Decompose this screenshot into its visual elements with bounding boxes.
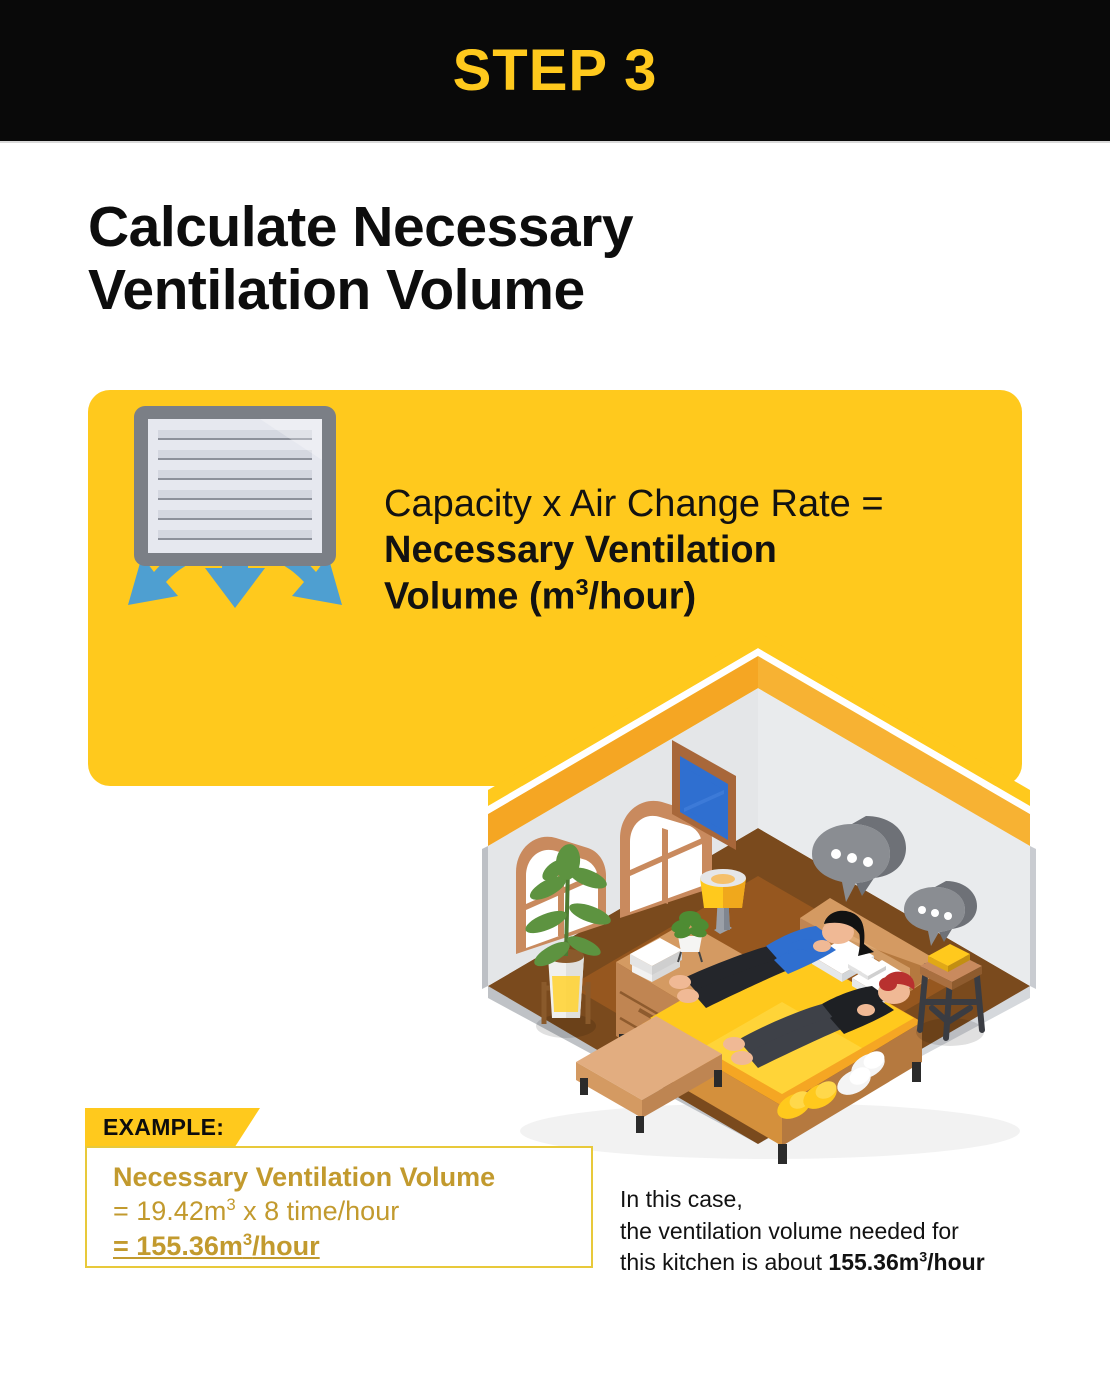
example-line-2a: = 19.42m <box>113 1196 226 1226</box>
note-line-2: the ventilation volume needed for <box>620 1218 959 1244</box>
ventilation-grille-icon <box>110 400 360 615</box>
formula-line-2c: /hour) <box>589 576 697 618</box>
header-divider <box>0 141 1110 143</box>
note-line-1: In this case, <box>620 1186 743 1212</box>
formula-exponent: 3 <box>575 574 588 600</box>
formula-line-1: Capacity x Air Change Rate = <box>384 482 984 528</box>
note-line-3a: this kitchen is about <box>620 1249 828 1275</box>
example-line-2: = 19.42m3 x 8 time/hour <box>113 1194 583 1228</box>
note-value-exponent: 3 <box>919 1249 927 1265</box>
note-value-number: 155.36m <box>828 1249 919 1275</box>
example-line-2b: x 8 time/hour <box>236 1196 400 1226</box>
isometric-bedroom-illustration <box>470 626 1046 1166</box>
step-label: STEP 3 <box>453 42 658 100</box>
note-highlight-value: 155.36m3/hour <box>828 1249 984 1275</box>
example-calculation: Necessary Ventilation Volume = 19.42m3 x… <box>113 1160 583 1263</box>
formula-line-3: Volume (m3/hour) <box>384 573 984 620</box>
example-line-3a: = 155.36m <box>113 1231 243 1261</box>
formula-line-2a: Necessary Ventilation <box>384 529 777 571</box>
conclusion-note: In this case, the ventilation volume nee… <box>620 1184 1080 1279</box>
page-title: Calculate Necessary Ventilation Volume <box>88 196 918 323</box>
example-tab-label: EXAMPLE: <box>103 1114 224 1141</box>
formula-text: Capacity x Air Change Rate = Necessary V… <box>384 482 984 620</box>
step-header-bar: STEP 3 <box>0 0 1110 141</box>
example-line-2-exponent: 3 <box>226 1195 235 1214</box>
note-value-unit: /hour <box>927 1249 985 1275</box>
formula-line-2b: Volume (m <box>384 576 575 618</box>
example-line-1: Necessary Ventilation Volume <box>113 1160 583 1194</box>
formula-line-2: Necessary Ventilation <box>384 528 984 574</box>
example-tab: EXAMPLE: <box>85 1108 260 1146</box>
note-line-3: this kitchen is about 155.36m3/hour <box>620 1249 985 1275</box>
example-line-3b: /hour <box>252 1231 320 1261</box>
example-line-3-exponent: 3 <box>243 1230 252 1249</box>
page-title-line-1: Calculate Necessary <box>88 195 633 259</box>
example-line-3: = 155.36m3/hour <box>113 1229 583 1263</box>
page-title-line-2: Ventilation Volume <box>88 258 585 322</box>
